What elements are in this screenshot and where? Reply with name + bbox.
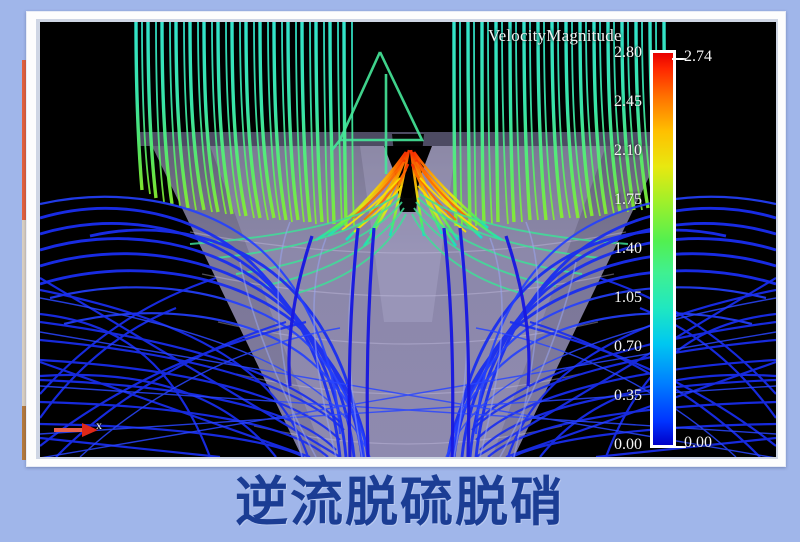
render-viewport[interactable]: x: [40, 22, 776, 457]
cfd-streamline-canvas: [40, 22, 776, 457]
axis-x-label: x: [96, 418, 102, 433]
x-axis-arrow-icon: [52, 416, 112, 444]
axis-indicator: x: [52, 416, 112, 444]
slide-root: x VelocityMagnitude 2.80 2.45 2.10 1.75 …: [0, 0, 800, 542]
slide-caption: 逆流脱硫脱硝: [0, 472, 800, 534]
